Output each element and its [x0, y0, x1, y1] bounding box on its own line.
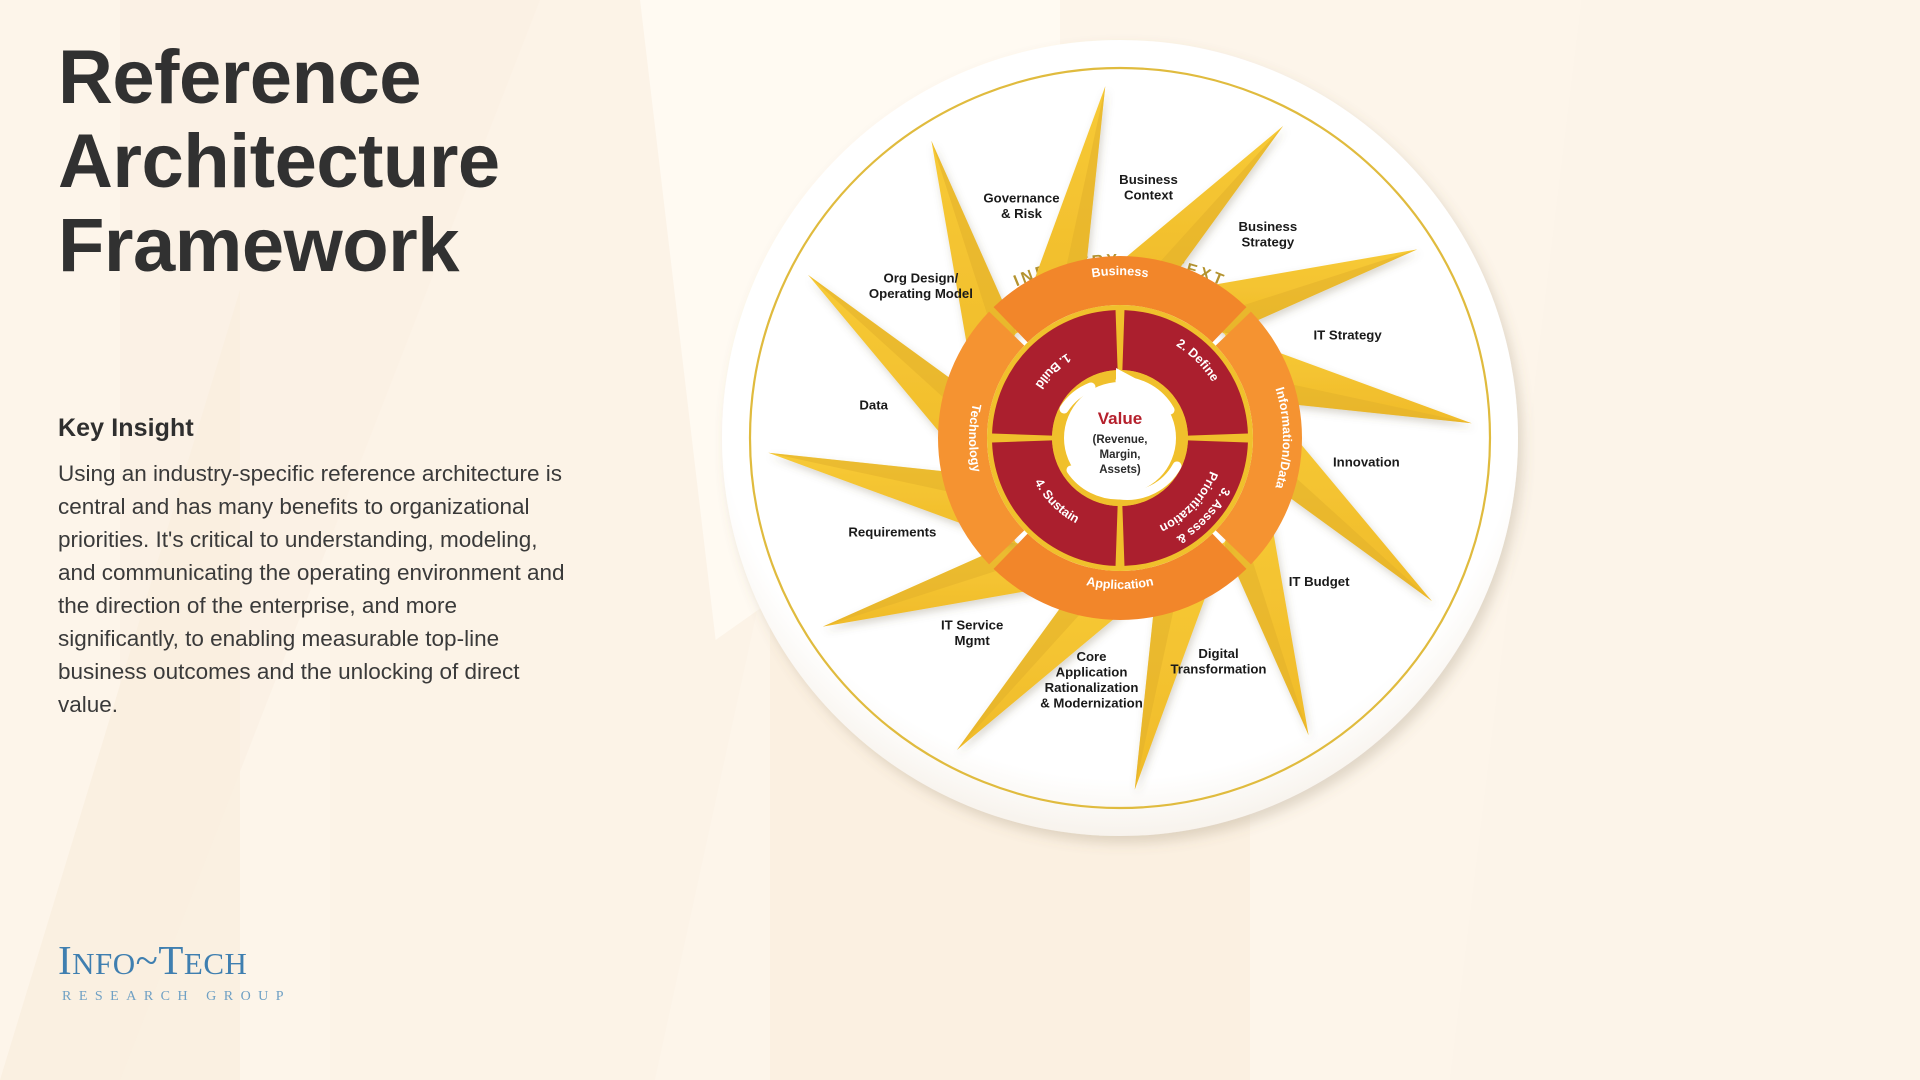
svg-text:IT Service: IT Service	[941, 617, 1003, 632]
page-title-line-2: Architecture	[58, 124, 678, 200]
svg-text:Digital: Digital	[1198, 646, 1238, 661]
page-title-line-3: Framework	[58, 208, 678, 284]
logo-ech: ECH	[184, 946, 248, 981]
value-line-3: Assets)	[1099, 464, 1141, 476]
svg-text:Governance: Governance	[983, 191, 1059, 206]
page-title-line-1: Reference	[58, 40, 678, 116]
slide-canvas: Reference Architecture Framework Key Ins…	[0, 0, 1920, 1080]
svg-text:IT Budget: IT Budget	[1289, 574, 1350, 589]
value-text-group: Value (Revenue, Margin, Assets)	[1093, 409, 1148, 476]
svg-text:Operating Model: Operating Model	[869, 286, 973, 301]
svg-text:Strategy: Strategy	[1241, 235, 1294, 250]
svg-text:Mgmt: Mgmt	[955, 633, 991, 648]
logo-subtitle: RESEARCH GROUP	[62, 989, 291, 1005]
petal-label-8: Requirements	[848, 524, 936, 539]
petal-label-1: BusinessStrategy	[1239, 219, 1298, 250]
svg-text:Application: Application	[1056, 665, 1128, 680]
svg-text:Rationalization: Rationalization	[1045, 680, 1139, 695]
value-line-2: Margin,	[1100, 449, 1141, 461]
svg-text:Core: Core	[1076, 649, 1106, 664]
info-tech-logo: INFO~TECH RESEARCH GROUP	[58, 940, 291, 1005]
logo-t: T	[158, 937, 184, 983]
logo-nfo: NFO	[72, 946, 136, 981]
page-title: Reference Architecture Framework	[58, 40, 678, 284]
petal-label-9: Data	[859, 397, 888, 412]
petal-label-0: BusinessContext	[1119, 172, 1178, 203]
svg-text:Business: Business	[1239, 219, 1298, 234]
svg-text:Data: Data	[859, 397, 888, 412]
petal-label-2: IT Strategy	[1314, 328, 1383, 343]
petal-label-10: Org Design/Operating Model	[869, 270, 973, 301]
logo-i: I	[58, 937, 72, 983]
logo-tilde: ~	[136, 937, 159, 983]
svg-text:Business: Business	[1119, 172, 1178, 187]
svg-text:& Modernization: & Modernization	[1040, 696, 1143, 711]
petal-label-4: IT Budget	[1289, 574, 1350, 589]
svg-text:Context: Context	[1124, 187, 1174, 202]
svg-text:Requirements: Requirements	[848, 524, 936, 539]
logo-wordmark: INFO~TECH	[58, 940, 291, 981]
key-insight-body: Using an industry-specific reference arc…	[58, 457, 578, 722]
value-line-1: (Revenue,	[1093, 434, 1148, 446]
svg-text:& Risk: & Risk	[1001, 206, 1043, 221]
svg-text:Transformation: Transformation	[1170, 661, 1266, 676]
svg-text:IT Strategy: IT Strategy	[1314, 328, 1383, 343]
key-insight-heading: Key Insight	[58, 414, 678, 443]
left-column: Reference Architecture Framework Key Ins…	[58, 40, 678, 722]
petal-label-3: Innovation	[1333, 455, 1400, 470]
domain-label-business: Business	[1090, 264, 1149, 280]
svg-text:Innovation: Innovation	[1333, 455, 1400, 470]
svg-text:Org Design/: Org Design/	[884, 270, 959, 285]
reference-architecture-diagram: INDUSTRY CONTEXT	[700, 18, 1540, 838]
value-title: Value	[1098, 409, 1142, 428]
